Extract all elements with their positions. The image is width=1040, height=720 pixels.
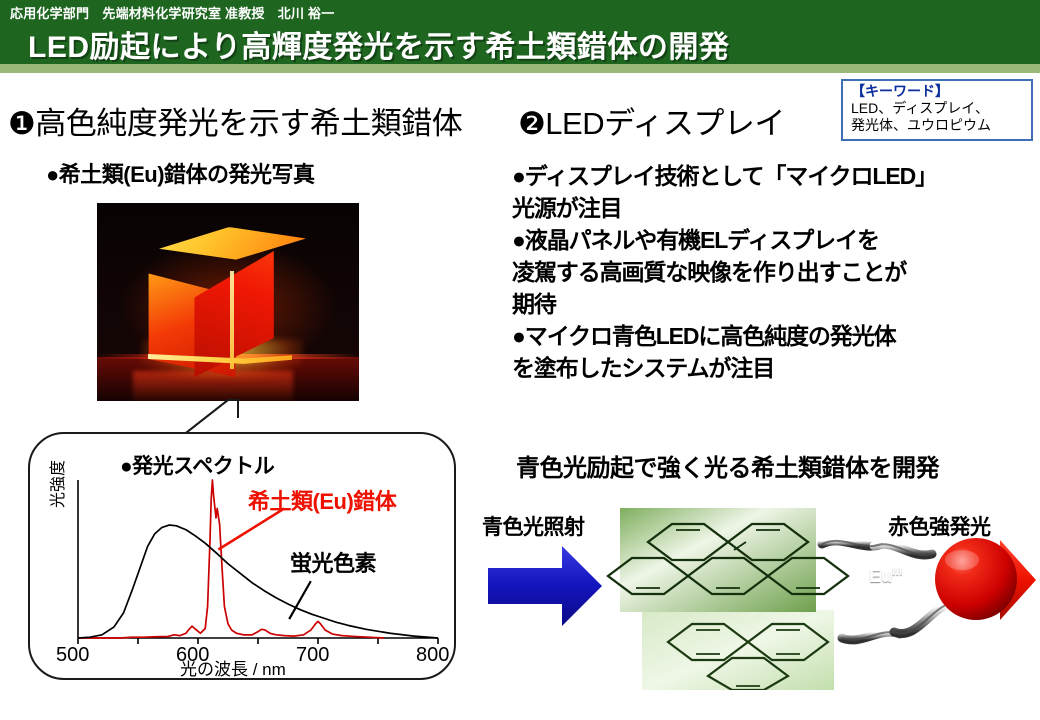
eu-metal-center-sphere	[935, 538, 1017, 620]
glowing-cube	[131, 227, 306, 377]
bullet-line: ●液晶パネルや有機ELディスプレイを	[512, 224, 1027, 256]
chart-x-tick-label: 600	[176, 644, 209, 667]
section-heading-2: ❷LEDディスプレイ	[518, 98, 785, 143]
section-heading-1: ❶高色純度発光を示す希土類錯体	[8, 98, 462, 143]
photo-subheading: ●希土類(Eu)錯体の発光写真	[46, 157, 315, 189]
keyword-box-body: LED、ディスプレイ、 発光体、ユウロピウム	[851, 100, 1027, 134]
eu-sphere-highlight	[945, 550, 979, 570]
cube-edge-vertical	[230, 271, 234, 369]
chart-series-eu	[78, 480, 384, 638]
scheme-title: 青色光励起で強く光る希土類錯体を開発	[516, 448, 939, 483]
emission-spectrum-chart	[40, 470, 450, 675]
complex-scheme-diagram	[470, 490, 1040, 690]
bullet-line: ●ディスプレイ技術として「マイクロLED」	[512, 160, 1027, 192]
chart-series-dye	[78, 525, 438, 638]
bullet-line: 光源が注目	[512, 192, 1027, 224]
chart-x-tick-label: 500	[56, 644, 89, 667]
ligand-panel-lower	[642, 610, 834, 690]
chart-x-tick-label: 800	[416, 644, 449, 667]
bullet-line: 期待	[512, 288, 1027, 320]
bullet-line: ●マイクロ青色LEDに高色純度の発光体	[512, 320, 1027, 352]
bullet-line: 凌駕する高画質な映像を作り出すことが	[512, 256, 1027, 288]
blue-excitation-arrow	[488, 546, 602, 626]
bullet-list: ●ディスプレイ技術として「マイクロLED」光源が注目●液晶パネルや有機ELディス…	[512, 160, 1027, 384]
slide-title: LED励起により高輝度発光を示す希土類錯体の開発	[28, 22, 729, 66]
keyword-box: 【キーワード】 LED、ディスプレイ、 発光体、ユウロピウム	[841, 79, 1033, 141]
eu-complex-photo	[97, 203, 359, 401]
bullet-line: を塗布したシステムが注目	[512, 352, 1027, 384]
keyword-box-title: 【キーワード】	[851, 83, 1027, 100]
slide-root: 応用化学部門 先端材料化学研究室 准教授 北川 裕一 LED励起により高輝度発光…	[0, 0, 1040, 720]
annotation-leader-eu	[218, 508, 284, 549]
chart-x-tick-label: 700	[296, 644, 329, 667]
ligand-panel-upper	[608, 508, 848, 612]
linker-chain-lower	[842, 606, 944, 640]
affiliation-text: 応用化学部門 先端材料化学研究室 准教授 北川 裕一	[10, 3, 334, 22]
